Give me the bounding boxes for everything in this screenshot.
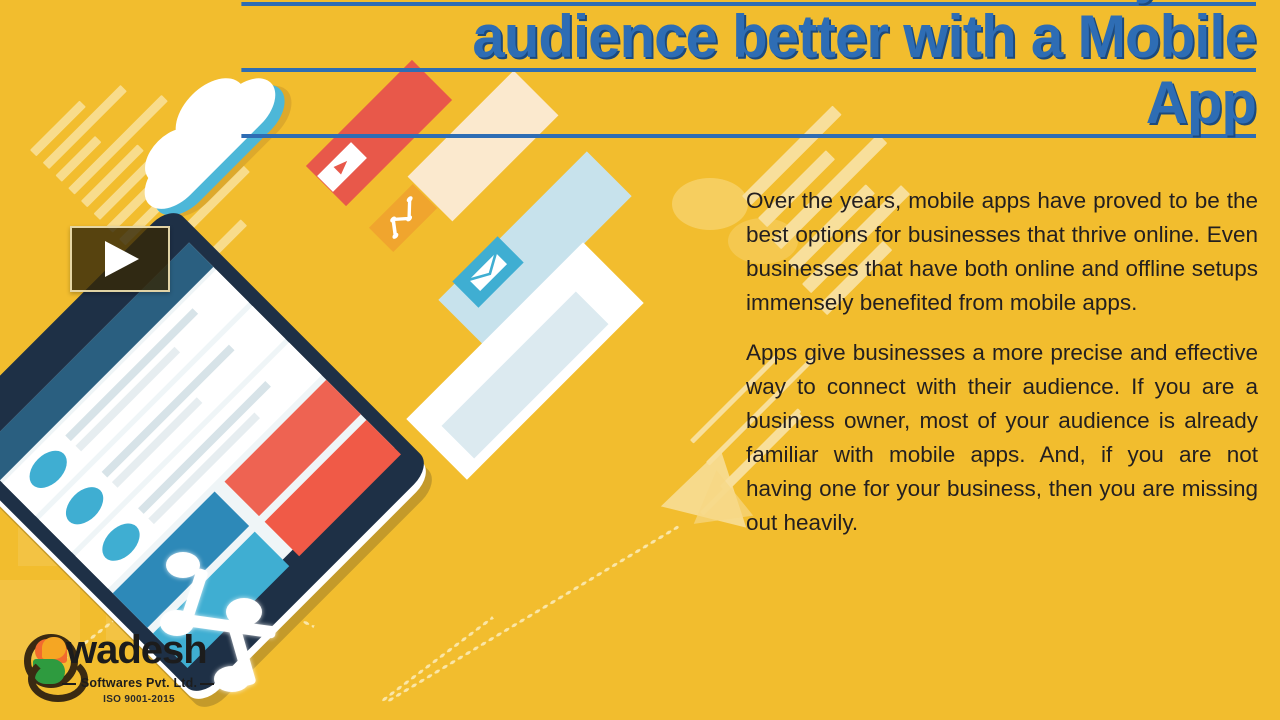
title-line-2: App bbox=[241, 72, 1256, 138]
play-icon bbox=[334, 157, 351, 174]
page-title: Reach out to your audience better with a… bbox=[210, 0, 1256, 138]
slide-canvas: Reach out to your audience better with a… bbox=[0, 0, 1280, 720]
paragraph-2: Apps give businesses a more precise and … bbox=[746, 336, 1258, 540]
zigzag-chart-icon bbox=[380, 195, 427, 242]
logo-subtitle: Softwares Pvt. Ltd. bbox=[64, 676, 214, 690]
paragraph-1: Over the years, mobile apps have proved … bbox=[746, 184, 1258, 320]
logo-certification: ISO 9001-2015 bbox=[64, 694, 214, 705]
title-line-1: audience better with a Mobile bbox=[241, 6, 1256, 72]
logo-wordmark: wadesh bbox=[66, 630, 207, 670]
play-icon bbox=[105, 241, 139, 277]
company-logo: wadesh Softwares Pvt. Ltd. ISO 9001-2015 bbox=[8, 632, 222, 716]
body-copy: Over the years, mobile apps have proved … bbox=[746, 184, 1258, 540]
mobile-app-illustration bbox=[0, 40, 700, 700]
play-video-button[interactable] bbox=[70, 226, 170, 292]
